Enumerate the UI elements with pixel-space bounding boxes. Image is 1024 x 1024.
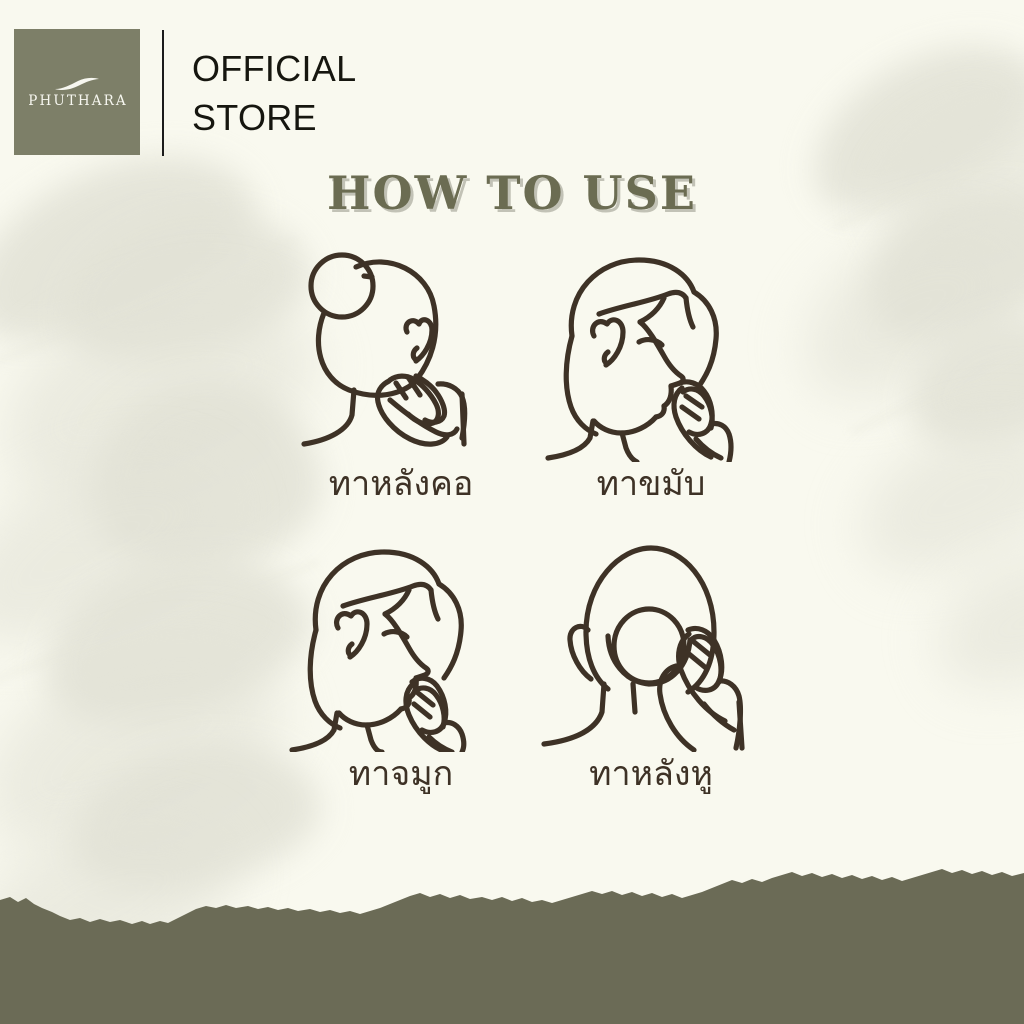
steps-grid: ทาหลังคอ	[276, 244, 776, 824]
temple-application-illustration	[536, 244, 766, 462]
back-of-neck-application-illustration	[286, 244, 516, 462]
step-label: ทาจมูก	[349, 754, 453, 795]
brand-logo[interactable]: PHUTHARA	[14, 29, 140, 155]
brand-header: PHUTHARA OFFICIAL STORE	[0, 0, 1024, 175]
step-label: ทาขมับ	[597, 464, 706, 505]
torn-edge-shape	[0, 864, 1024, 1024]
step-label: ทาหลังคอ	[329, 464, 474, 505]
section-heading: HOW TO USE	[0, 166, 1024, 220]
nose-application-illustration	[286, 534, 516, 752]
step-behind-ear: ทาหลังหู	[526, 534, 776, 824]
step-back-of-neck: ทาหลังคอ	[276, 244, 526, 534]
brand-wordmark: PHUTHARA	[26, 95, 128, 109]
product-infographic: PHUTHARA OFFICIAL STORE HOW TO USE	[0, 0, 1024, 1024]
behind-ear-application-illustration	[536, 534, 766, 752]
official-store-title: OFFICIAL STORE	[192, 44, 356, 142]
header-divider	[162, 30, 164, 156]
bottom-decorative-band	[0, 864, 1024, 1024]
leaf-swoosh-icon	[54, 76, 100, 92]
step-nose: ทาจมูก	[276, 534, 526, 824]
step-temple: ทาขมับ	[526, 244, 776, 534]
step-label: ทาหลังหู	[589, 754, 713, 795]
